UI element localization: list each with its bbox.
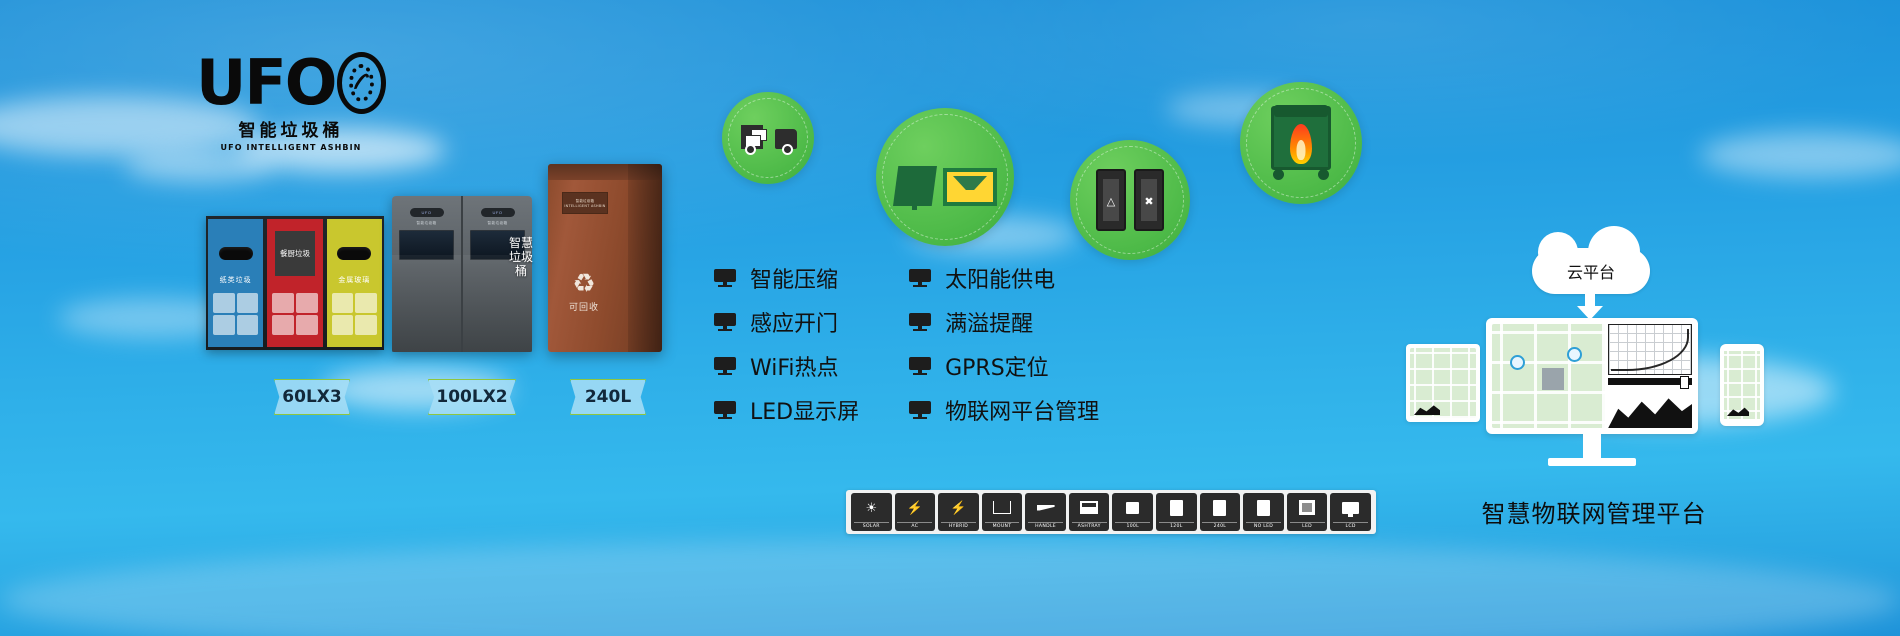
twin-bin-icon: △ ✖ bbox=[1070, 140, 1190, 260]
spec-icon-hybrid: ⚡ HYBRID bbox=[938, 493, 979, 531]
feature-label: LED显示屏 bbox=[750, 394, 859, 426]
monitor-stand bbox=[1583, 434, 1601, 460]
feature-label: GPRS定位 bbox=[945, 350, 1049, 382]
led-monitor-icon bbox=[714, 269, 736, 287]
led-line-1: 智能垃圾箱 bbox=[576, 198, 594, 203]
feature-item: 满溢提醒 bbox=[909, 306, 1099, 338]
spec-label: 240L bbox=[1202, 522, 1237, 529]
spec-label: AC bbox=[897, 522, 932, 529]
feature-item: 智能压缩 bbox=[714, 262, 859, 294]
logo-cn-name: 智能垃圾桶 bbox=[196, 116, 386, 141]
area-chart bbox=[1608, 388, 1692, 428]
cloud-platform-illustration: 云平台 bbox=[1440, 248, 1742, 482]
capacity-tag-100lx2: 100LX2 bbox=[428, 379, 516, 415]
monitor-screen bbox=[1492, 324, 1692, 428]
spec-label: NO LED bbox=[1246, 522, 1281, 529]
led-display: 智能垃圾箱 INTELLIGENT ASHBIN bbox=[562, 192, 608, 214]
feature-circle-compaction bbox=[722, 92, 814, 184]
ufo-ring-icon bbox=[337, 52, 386, 114]
feature-item: 感应开门 bbox=[714, 306, 859, 338]
bin-lower-panel bbox=[392, 255, 461, 352]
no-led-icon bbox=[1243, 493, 1284, 522]
solar-panel-icon bbox=[876, 108, 1014, 246]
cloud-decoration bbox=[124, 150, 274, 182]
bin-compartment-kitchen: 餐厨垃圾 bbox=[267, 219, 322, 347]
feature-label: 感应开门 bbox=[750, 306, 838, 338]
spec-label: 120L bbox=[1159, 522, 1194, 529]
brand-logo: UFO 智能垃圾桶 UFO INTELLIGENT ASHBIN bbox=[196, 52, 386, 152]
wall-mount-icon bbox=[982, 493, 1023, 522]
map-building bbox=[1542, 368, 1564, 390]
dashboard-charts bbox=[1608, 324, 1692, 428]
feature-circle-solar bbox=[876, 108, 1014, 246]
feature-column-left: 智能压缩 感应开门 WiFi热点 LED显示屏 bbox=[714, 262, 859, 426]
led-monitor-icon bbox=[714, 313, 736, 331]
compartment-graphic bbox=[208, 288, 263, 347]
compartment-graphic bbox=[267, 288, 322, 347]
panel-small-text: 智能垃圾箱 bbox=[470, 221, 525, 226]
bin-shadow-side bbox=[628, 164, 662, 352]
recycle-label: 可回收 bbox=[560, 300, 608, 313]
compartment-label: 餐厨垃圾 bbox=[275, 231, 315, 275]
sensor-pill-icon: UFO bbox=[410, 208, 444, 217]
spec-icon-120l: 120L bbox=[1156, 493, 1197, 531]
spec-label: SOLAR bbox=[854, 522, 889, 529]
line-chart bbox=[1608, 324, 1692, 375]
spec-label: ASHTRAY bbox=[1072, 522, 1107, 529]
bin-compartment-metal-glass: 金属玻璃 bbox=[327, 219, 382, 347]
smartphone-screen bbox=[1724, 351, 1760, 419]
compartment-top: 纸类垃圾 bbox=[208, 219, 263, 288]
spec-label: HANDLE bbox=[1028, 522, 1063, 529]
spec-label: MOUNT bbox=[985, 522, 1020, 529]
handle-icon bbox=[1025, 493, 1066, 522]
spec-icon-ac: ⚡ AC bbox=[895, 493, 936, 531]
feature-circle-twin-bins: △ ✖ bbox=[1070, 140, 1190, 260]
bin-60lx3: 纸类垃圾 餐厨垃圾 金属玻璃 bbox=[206, 216, 384, 350]
panel-small-text: 智能垃圾箱 bbox=[399, 221, 454, 226]
progress-slider bbox=[1608, 378, 1692, 385]
ashtray-icon bbox=[1069, 493, 1110, 522]
compartment-label: 金属玻璃 bbox=[327, 275, 382, 285]
feature-label: 太阳能供电 bbox=[945, 262, 1055, 294]
recycle-mark: ♻ 可回收 bbox=[560, 270, 608, 313]
bin-compartment-paper: 纸类垃圾 bbox=[208, 219, 263, 347]
smartphone-device bbox=[1720, 344, 1764, 426]
drop-slot-icon bbox=[219, 247, 253, 260]
map-pin bbox=[1567, 347, 1582, 362]
feature-list: 智能压缩 感应开门 WiFi热点 LED显示屏 太阳能供电 满溢提醒 bbox=[714, 262, 1099, 426]
promo-banner: UFO 智能垃圾桶 UFO INTELLIGENT ASHBIN 纸类垃圾 餐厨… bbox=[0, 0, 1900, 636]
sun-icon: ☀ bbox=[851, 493, 892, 522]
bin-240l-icon bbox=[1200, 493, 1241, 522]
capacity-tag-60lx3: 60LX3 bbox=[274, 379, 350, 415]
tablet-device bbox=[1406, 344, 1480, 422]
led-monitor-icon bbox=[909, 313, 931, 331]
spec-icon-no-led: NO LED bbox=[1243, 493, 1284, 531]
spec-label: 100L bbox=[1115, 522, 1150, 529]
power-plug-icon: ⚡ bbox=[895, 493, 936, 522]
feature-item: 太阳能供电 bbox=[909, 262, 1099, 294]
sensor-pill-icon: UFO bbox=[481, 208, 515, 217]
bin-240l: 智能垃圾箱 INTELLIGENT ASHBIN ♻ 可回收 bbox=[548, 164, 662, 352]
hybrid-bolt-icon: ⚡ bbox=[938, 493, 979, 522]
feature-item: GPRS定位 bbox=[909, 350, 1099, 382]
desktop-monitor bbox=[1486, 318, 1698, 434]
compartment-graphic bbox=[327, 288, 382, 347]
cloud-decoration bbox=[1700, 132, 1900, 178]
feature-label: WiFi热点 bbox=[750, 350, 839, 382]
bin-100lx2: UFO 智能垃圾箱 UFO 智能垃圾箱 智慧垃圾桶 bbox=[392, 196, 532, 352]
spec-icon-strip: ☀ SOLAR ⚡ AC ⚡ HYBRID MOUNT HANDLE ASHTR… bbox=[846, 490, 1376, 534]
bin-60lx3-body: 纸类垃圾 餐厨垃圾 金属玻璃 bbox=[206, 216, 384, 350]
bin-100lx2-left-half: UFO 智能垃圾箱 bbox=[392, 196, 461, 352]
spec-icon-ashtray: ASHTRAY bbox=[1069, 493, 1110, 531]
lcd-icon bbox=[1330, 493, 1371, 522]
waste-type-icons bbox=[213, 293, 258, 335]
led-monitor-icon bbox=[714, 401, 736, 419]
led-monitor-icon bbox=[909, 401, 931, 419]
led-monitor-icon bbox=[909, 357, 931, 375]
feature-item: WiFi热点 bbox=[714, 350, 859, 382]
recycle-icon: ♻ bbox=[560, 270, 608, 296]
feature-label: 物联网平台管理 bbox=[945, 394, 1099, 426]
monitor-base bbox=[1548, 458, 1636, 466]
spec-icon-solar: ☀ SOLAR bbox=[851, 493, 892, 531]
cloud-platform-label: 云平台 bbox=[1567, 259, 1615, 283]
fire-alarm-icon bbox=[1240, 82, 1362, 204]
drop-slot-icon bbox=[337, 247, 371, 260]
led-monitor-icon bbox=[909, 269, 931, 287]
bin-120l-icon bbox=[1156, 493, 1197, 522]
cloud-platform-tag: 云平台 bbox=[1532, 248, 1650, 294]
garbage-truck-icon bbox=[722, 92, 814, 184]
spec-label: HYBRID bbox=[941, 522, 976, 529]
dashboard-map bbox=[1492, 324, 1605, 428]
spec-label: LED bbox=[1290, 522, 1325, 529]
feature-column-right: 太阳能供电 满溢提醒 GPRS定位 物联网平台管理 bbox=[909, 262, 1099, 426]
compartment-label: 纸类垃圾 bbox=[208, 275, 263, 285]
compartment-top: 金属玻璃 bbox=[327, 219, 382, 288]
logo-wordmark: UFO bbox=[196, 54, 335, 112]
feature-item: 物联网平台管理 bbox=[909, 394, 1099, 426]
feature-label: 满溢提醒 bbox=[945, 306, 1033, 338]
bin-side-label: 智慧垃圾桶 bbox=[508, 236, 534, 278]
spec-label: LCD bbox=[1333, 522, 1368, 529]
spec-icon-240l: 240L bbox=[1200, 493, 1241, 531]
waste-type-icons bbox=[272, 293, 317, 335]
led-icon bbox=[1287, 493, 1328, 522]
bin-240l-body: 智能垃圾箱 INTELLIGENT ASHBIN ♻ 可回收 bbox=[548, 164, 662, 352]
led-monitor-icon bbox=[714, 357, 736, 375]
waste-type-icons bbox=[332, 293, 377, 335]
feature-item: LED显示屏 bbox=[714, 394, 859, 426]
cloud-decoration bbox=[0, 540, 1900, 636]
tablet-screen bbox=[1410, 348, 1476, 418]
capacity-tag-240l: 240L bbox=[570, 379, 646, 415]
map-pin bbox=[1510, 355, 1525, 370]
bin-100l-icon bbox=[1112, 493, 1153, 522]
logo-en-name: UFO INTELLIGENT ASHBIN bbox=[196, 143, 386, 152]
feature-circle-fire-alarm bbox=[1240, 82, 1362, 204]
spec-icon-100l: 100L bbox=[1112, 493, 1153, 531]
spec-icon-handle: HANDLE bbox=[1025, 493, 1066, 531]
platform-caption: 智慧物联网管理平台 bbox=[1444, 494, 1744, 529]
spec-icon-led: LED bbox=[1287, 493, 1328, 531]
led-line-2: INTELLIGENT ASHBIN bbox=[564, 204, 605, 208]
spec-icon-lcd: LCD bbox=[1330, 493, 1371, 531]
compartment-top: 餐厨垃圾 bbox=[267, 219, 322, 288]
spec-icon-mount: MOUNT bbox=[982, 493, 1023, 531]
logo-wordmark-row: UFO bbox=[196, 52, 386, 114]
feature-label: 智能压缩 bbox=[750, 262, 838, 294]
